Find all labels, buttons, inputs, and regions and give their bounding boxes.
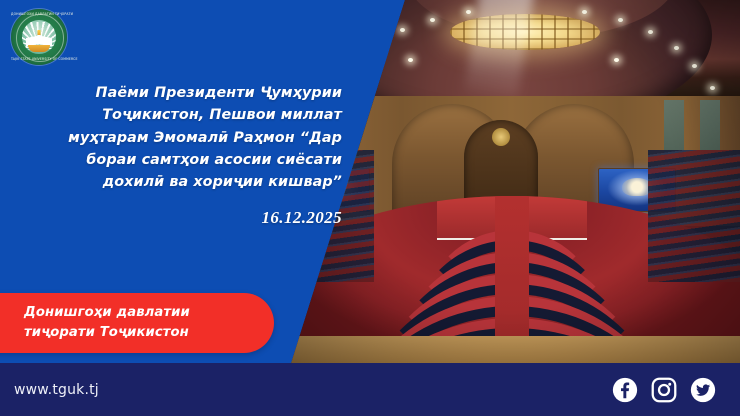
balcony-rows [648, 150, 740, 282]
logo-text-bottom: TAJIK STATE UNIVERSITY OF COMMERCE [11, 58, 67, 61]
ceiling-spotlight [648, 30, 653, 34]
logo-core [22, 20, 56, 54]
event-date: 16.12.2025 [22, 208, 342, 228]
ceiling-spotlight [692, 64, 697, 68]
footer-bar: www.tguk.tj [0, 363, 740, 416]
ceiling-spotlight [466, 10, 471, 14]
social-links [612, 377, 740, 403]
facebook-icon[interactable] [612, 377, 638, 403]
twitter-icon[interactable] [690, 377, 716, 403]
university-name-label: Донишгоҳи давлатии тиҷорати Тоҷикистон [0, 303, 274, 343]
ceiling-spotlight [618, 18, 623, 22]
ceiling-spotlight [582, 10, 587, 14]
ceiling-spotlight [614, 58, 619, 62]
right-balcony [648, 150, 740, 282]
ceiling-spotlight [710, 86, 715, 90]
logo-base-arc [28, 45, 50, 52]
university-name-banner: Донишгоҳи давлатии тиҷорати Тоҷикистон [0, 293, 274, 353]
website-url[interactable]: www.tguk.tj [0, 382, 99, 398]
ceiling-spotlight [408, 58, 413, 62]
ceiling-spotlight [674, 46, 679, 50]
ceiling-spotlight [430, 18, 435, 22]
university-logo[interactable]: ДОНИШГОҲИ ДАВЛАТИИ ТИҶОРАТИ TAJIK STATE … [11, 9, 67, 65]
logo-text-top: ДОНИШГОҲИ ДАВЛАТИИ ТИҶОРАТИ [11, 13, 67, 16]
instagram-icon[interactable] [651, 377, 677, 403]
ceiling-spotlight [400, 28, 405, 32]
poster-canvas: ДОНИШГОҲИ ДАВЛАТИИ ТИҶОРАТИ TAJIK STATE … [0, 0, 740, 416]
page-title: Паёми Президенти Ҷумҳурии Тоҷикистон, Пе… [22, 82, 342, 193]
state-emblem-medallion [492, 128, 510, 146]
